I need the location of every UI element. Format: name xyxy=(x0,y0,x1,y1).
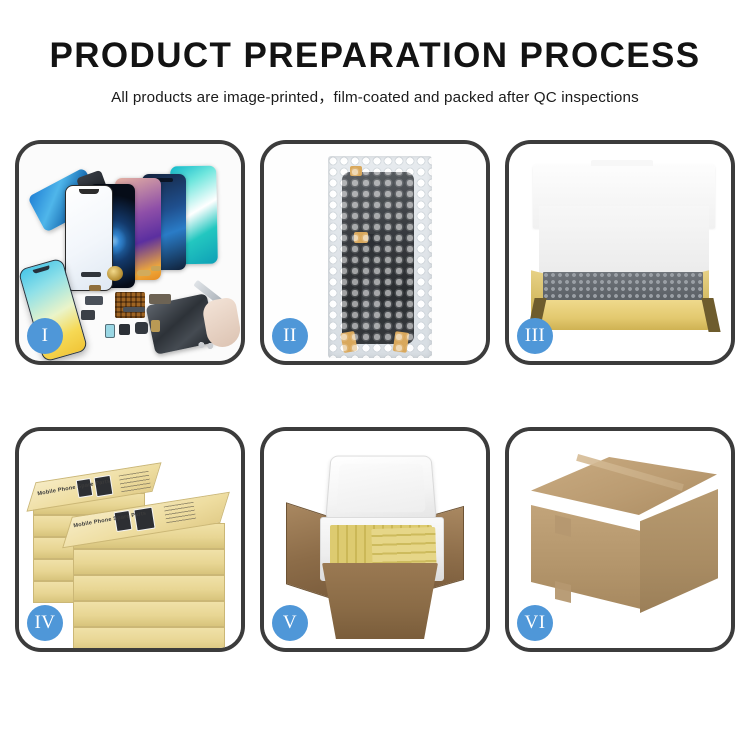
component-icon xyxy=(119,324,130,335)
component-icon xyxy=(81,272,101,277)
bubble-wrap-bag-icon xyxy=(328,156,432,358)
step-badge-1: I xyxy=(27,318,63,354)
step-badge-6: VI xyxy=(517,605,553,641)
retail-box-layer xyxy=(73,575,225,601)
carton-left-face-icon xyxy=(531,505,641,609)
screws-icon xyxy=(197,340,219,350)
page-title: PRODUCT PREPARATION PROCESS xyxy=(0,38,750,75)
page-subtitle: All products are image-printed，film-coat… xyxy=(0,85,750,107)
process-step-panel-1[interactable]: I xyxy=(15,140,245,365)
step-badge-2: II xyxy=(272,318,308,354)
carton-tape-icon xyxy=(555,515,571,537)
mailer-back-wall-icon xyxy=(539,206,709,276)
process-step-panel-4[interactable]: Mobile Phone Spare Parts Mobile Phone Sp… xyxy=(15,427,245,652)
carton-body-icon xyxy=(322,563,438,639)
page-header: PRODUCT PREPARATION PROCESS All products… xyxy=(0,0,750,107)
flex-cable-icon xyxy=(360,234,381,331)
screen-assembly-icon xyxy=(342,172,414,344)
speaker-coil-icon xyxy=(107,266,123,281)
component-icon xyxy=(151,320,160,332)
retail-box-layer xyxy=(73,549,225,575)
process-step-panel-5[interactable]: V xyxy=(260,427,490,652)
flex-cable-icon xyxy=(149,294,171,304)
component-icon xyxy=(151,266,161,271)
tape-icon xyxy=(350,166,362,176)
step-badge-3: III xyxy=(517,318,553,354)
tape-icon xyxy=(393,331,410,353)
flex-cable-icon xyxy=(123,307,145,312)
process-step-panel-3[interactable]: III xyxy=(505,140,735,365)
component-icon xyxy=(135,322,148,334)
component-icon xyxy=(89,285,101,291)
foam-lid-icon xyxy=(325,456,437,522)
process-step-panel-2[interactable]: II xyxy=(260,140,490,365)
component-icon xyxy=(81,310,95,320)
retail-box-layer xyxy=(73,627,225,648)
carton-tape-icon xyxy=(555,581,571,603)
tape-icon xyxy=(354,232,368,243)
process-step-grid: I II III xyxy=(0,140,750,702)
screw-tray-icon xyxy=(115,292,145,318)
component-icon xyxy=(85,296,103,305)
retail-box-layer xyxy=(73,601,225,627)
component-icon xyxy=(105,324,115,338)
component-icon xyxy=(137,270,151,276)
mailer-front-icon xyxy=(537,300,711,330)
step-badge-5: V xyxy=(272,605,308,641)
process-step-panel-6[interactable]: VI xyxy=(505,427,735,652)
step-badge-4: IV xyxy=(27,605,63,641)
